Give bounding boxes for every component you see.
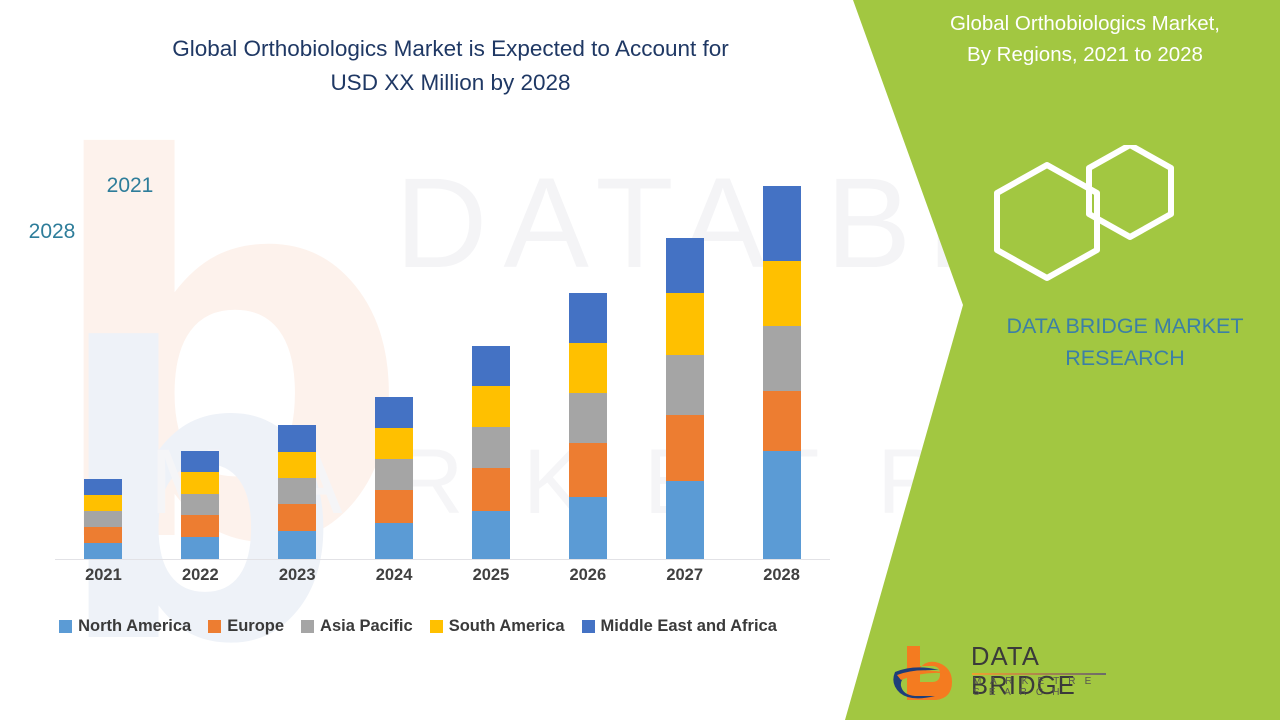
bar-segment-2024-north-america[interactable] bbox=[375, 523, 413, 559]
legend-swatch-north-america bbox=[59, 620, 72, 633]
bar-segment-2022-middle-east-and-africa[interactable] bbox=[181, 451, 219, 472]
bar-segment-2025-north-america[interactable] bbox=[472, 511, 510, 559]
bar-column-2027[interactable] bbox=[666, 238, 704, 559]
bar-segment-2026-north-america[interactable] bbox=[569, 497, 607, 559]
bar-column-2022[interactable] bbox=[181, 451, 219, 559]
legend-swatch-middle-east-and-africa bbox=[582, 620, 595, 633]
legend-label-middle-east-and-africa: Middle East and Africa bbox=[601, 617, 777, 636]
bar-segment-2027-north-america[interactable] bbox=[666, 481, 704, 559]
chart-plot-area bbox=[55, 120, 830, 560]
bar-segment-2023-europe[interactable] bbox=[278, 504, 316, 531]
bar-segment-2024-middle-east-and-africa[interactable] bbox=[375, 397, 413, 428]
brand-line-1: DATA BRIDGE MARKET bbox=[975, 310, 1275, 342]
bar-segment-2022-europe[interactable] bbox=[181, 515, 219, 537]
bar-segment-2027-south-america[interactable] bbox=[666, 293, 704, 355]
legend-item-north-america[interactable]: North America bbox=[59, 617, 191, 636]
logo-b-mark-icon bbox=[893, 642, 965, 702]
legend-label-south-america: South America bbox=[449, 617, 565, 636]
bar-segment-2027-asia-pacific[interactable] bbox=[666, 355, 704, 415]
legend-item-asia-pacific[interactable]: Asia Pacific bbox=[301, 617, 413, 636]
bar-segment-2028-south-america[interactable] bbox=[763, 261, 801, 326]
bar-segment-2023-middle-east-and-africa[interactable] bbox=[278, 425, 316, 452]
bar-segment-2028-asia-pacific[interactable] bbox=[763, 326, 801, 391]
bar-segment-2022-south-america[interactable] bbox=[181, 472, 219, 494]
legend-swatch-asia-pacific bbox=[301, 620, 314, 633]
bar-column-2025[interactable] bbox=[472, 346, 510, 559]
bar-column-2024[interactable] bbox=[375, 397, 413, 559]
hexagon-badges bbox=[985, 145, 1200, 290]
bar-segment-2024-asia-pacific[interactable] bbox=[375, 459, 413, 490]
brand-line-2: RESEARCH bbox=[975, 342, 1275, 374]
x-axis-label-2025: 2025 bbox=[453, 566, 529, 585]
bar-column-2023[interactable] bbox=[278, 425, 316, 559]
chart-title-line1: Global Orthobiologics Market is Expected… bbox=[98, 32, 803, 66]
x-axis-label-2022: 2022 bbox=[162, 566, 238, 585]
bar-segment-2023-south-america[interactable] bbox=[278, 452, 316, 478]
bar-segment-2025-asia-pacific[interactable] bbox=[472, 427, 510, 468]
bar-segment-2028-north-america[interactable] bbox=[763, 451, 801, 559]
bar-segment-2024-europe[interactable] bbox=[375, 490, 413, 523]
bar-segment-2026-europe[interactable] bbox=[569, 443, 607, 497]
bar-segment-2025-europe[interactable] bbox=[472, 468, 510, 511]
bar-segment-2026-asia-pacific[interactable] bbox=[569, 393, 607, 443]
bar-segment-2027-middle-east-and-africa[interactable] bbox=[666, 238, 704, 293]
bar-segment-2028-europe[interactable] bbox=[763, 391, 801, 451]
panel-title-line2: By Regions, 2021 to 2028 bbox=[900, 39, 1270, 70]
bar-column-2028[interactable] bbox=[763, 186, 801, 559]
bar-segment-2024-south-america[interactable] bbox=[375, 428, 413, 459]
bar-segment-2025-middle-east-and-africa[interactable] bbox=[472, 346, 510, 386]
hexagon-outlines bbox=[985, 145, 1200, 290]
chart-legend: North AmericaEuropeAsia PacificSouth Ame… bbox=[0, 617, 836, 636]
legend-label-europe: Europe bbox=[227, 617, 284, 636]
x-axis-label-2021: 2021 bbox=[65, 566, 141, 585]
panel-title-line1: Global Orthobiologics Market, bbox=[900, 8, 1270, 39]
hexagon-2021-outline bbox=[1089, 145, 1171, 237]
bar-segment-2021-europe[interactable] bbox=[84, 527, 122, 543]
bar-segment-2021-asia-pacific[interactable] bbox=[84, 511, 122, 527]
legend-label-north-america: North America bbox=[78, 617, 191, 636]
bar-segment-2021-middle-east-and-africa[interactable] bbox=[84, 479, 122, 495]
bar-segment-2026-south-america[interactable] bbox=[569, 343, 607, 393]
legend-label-asia-pacific: Asia Pacific bbox=[320, 617, 413, 636]
legend-item-middle-east-and-africa[interactable]: Middle East and Africa bbox=[582, 617, 777, 636]
logo-divider bbox=[972, 673, 1106, 675]
legend-swatch-south-america bbox=[430, 620, 443, 633]
x-axis-label-2028: 2028 bbox=[744, 566, 820, 585]
brand-name: DATA BRIDGE MARKET RESEARCH bbox=[975, 310, 1275, 374]
legend-swatch-europe bbox=[208, 620, 221, 633]
x-axis-label-2024: 2024 bbox=[356, 566, 432, 585]
x-axis-label-2026: 2026 bbox=[550, 566, 626, 585]
bar-segment-2023-asia-pacific[interactable] bbox=[278, 478, 316, 504]
bar-segment-2025-south-america[interactable] bbox=[472, 386, 510, 427]
chart-title-line2: USD XX Million by 2028 bbox=[98, 66, 803, 100]
x-axis-label-2027: 2027 bbox=[647, 566, 723, 585]
bar-column-2021[interactable] bbox=[84, 479, 122, 559]
bar-segment-2028-middle-east-and-africa[interactable] bbox=[763, 186, 801, 261]
bar-segment-2026-middle-east-and-africa[interactable] bbox=[569, 293, 607, 343]
bar-segment-2021-north-america[interactable] bbox=[84, 543, 122, 559]
bar-segment-2022-asia-pacific[interactable] bbox=[181, 494, 219, 515]
legend-item-south-america[interactable]: South America bbox=[430, 617, 565, 636]
infographic-canvas: b b DATA BRIDGE M A R K E T R E S E A R … bbox=[0, 0, 1280, 720]
bar-column-2026[interactable] bbox=[569, 293, 607, 559]
bar-segment-2027-europe[interactable] bbox=[666, 415, 704, 481]
company-logo: DATA BRIDGE M A R K E T R E S E A R C H bbox=[893, 640, 1108, 702]
logo-tagline: M A R K E T R E S E A R C H bbox=[973, 676, 1108, 698]
legend-item-europe[interactable]: Europe bbox=[208, 617, 284, 636]
bar-segment-2023-north-america[interactable] bbox=[278, 531, 316, 559]
x-axis-line bbox=[55, 559, 830, 560]
panel-title: Global Orthobiologics Market, By Regions… bbox=[900, 8, 1270, 70]
bar-segment-2022-north-america[interactable] bbox=[181, 537, 219, 559]
page-title: Global Orthobiologics Market is Expected… bbox=[98, 32, 803, 100]
hexagon-2028-outline bbox=[997, 165, 1097, 278]
bar-segment-2021-south-america[interactable] bbox=[84, 495, 122, 511]
x-axis-label-2023: 2023 bbox=[259, 566, 335, 585]
